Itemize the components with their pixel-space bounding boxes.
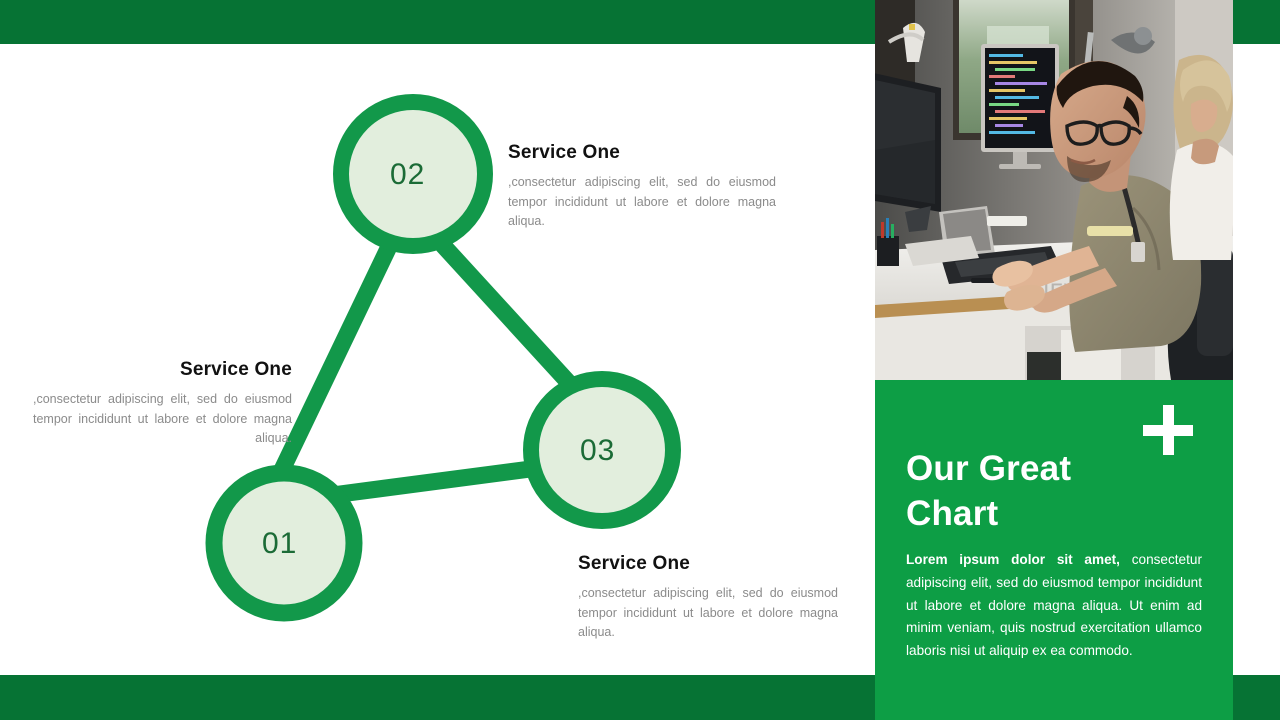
panel-body-bold: Lorem ipsum dolor sit amet, [906, 552, 1120, 567]
office-photo-illustration: NEW [875, 0, 1233, 380]
service-body: ,consectetur adipiscing elit, sed do eiu… [578, 584, 838, 643]
service-body: ,consectetur adipiscing elit, sed do eiu… [508, 173, 776, 232]
service-title: Service One [508, 142, 776, 164]
node-label-03: 03 [580, 434, 615, 468]
service-block-two: Service One ,consectetur adipiscing elit… [33, 359, 292, 449]
service-title: Service One [578, 553, 838, 575]
office-photo: NEW [875, 0, 1233, 380]
node-label-02: 02 [390, 158, 425, 192]
service-block-three: Service One ,consectetur adipiscing elit… [578, 553, 838, 643]
service-block-one: Service One ,consectetur adipiscing elit… [508, 142, 776, 232]
service-title: Service One [33, 359, 292, 381]
page-title: Our Great Chart [906, 446, 1166, 536]
panel-body-text: Lorem ipsum dolor sit amet, consectetur … [906, 549, 1202, 663]
panel-body-rest: consectetur adipiscing elit, sed do eius… [906, 552, 1202, 658]
service-body: ,consectetur adipiscing elit, sed do eiu… [33, 390, 292, 449]
connector-02-03 [429, 230, 590, 406]
node-label-01: 01 [262, 527, 297, 561]
